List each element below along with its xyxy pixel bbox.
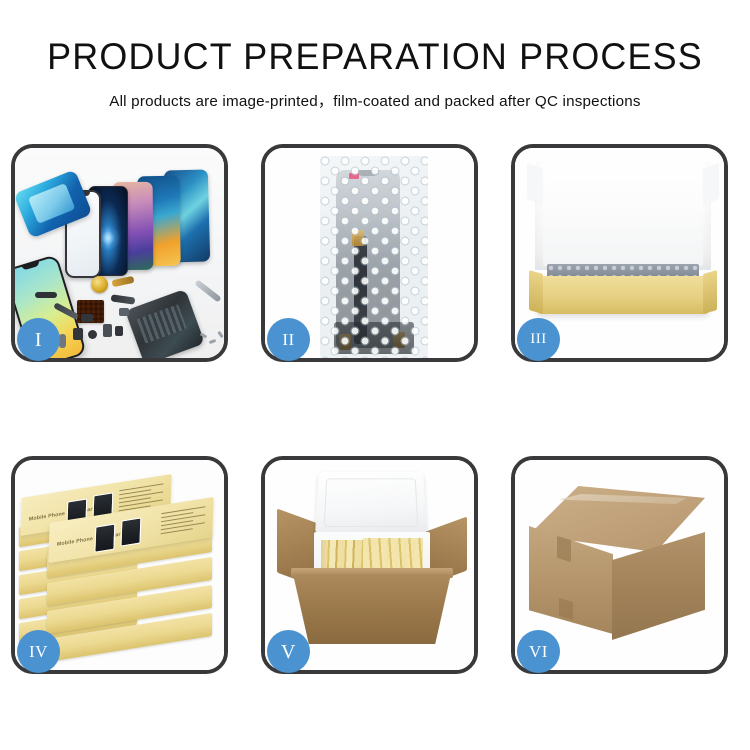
small-part-3 (103, 324, 112, 337)
screws-group (200, 332, 224, 348)
product-preparation-page: PRODUCT PREPARATION PROCESS All products… (0, 0, 750, 750)
carton-seam-tab-top (557, 536, 571, 562)
page-subtitle: All products are image-printed，film-coat… (0, 94, 750, 109)
bubble-wrap-bag (320, 156, 428, 358)
speaker-grille-part (35, 292, 57, 298)
process-step-panel-2: II (261, 144, 478, 362)
process-step-panel-4: Mobile Phone Spare Parts Mobile Phone Sp… (11, 456, 228, 674)
carton-seam-tab-bottom (559, 598, 573, 620)
page-title: PRODUCT PREPARATION PROCESS (11, 38, 739, 75)
step-badge-2: II (267, 318, 310, 361)
step-badge-4: IV (17, 630, 60, 673)
process-step-panel-1: I (11, 144, 228, 362)
foam-box-lid (315, 472, 427, 534)
small-part-7 (119, 308, 129, 316)
process-steps-grid: I II (11, 144, 739, 678)
small-part-2 (88, 330, 97, 339)
yellow-box-base (537, 276, 709, 314)
box-label-text-front: Mobile Phone Spare Parts (57, 531, 126, 548)
small-part-4 (115, 326, 123, 336)
process-step-panel-5: V (261, 456, 478, 674)
box-art-phone-4 (120, 517, 141, 546)
small-part-1 (73, 328, 83, 340)
bubble-texture (320, 156, 428, 358)
step-badge-3: III (517, 318, 560, 361)
gold-coil-part (91, 276, 108, 293)
foam-insert-panel (543, 196, 703, 266)
box-art-phone-3 (94, 523, 115, 552)
process-step-panel-6: VI (511, 456, 728, 674)
process-step-panel-3: III (511, 144, 728, 362)
step-badge-1: I (17, 318, 60, 361)
small-part-5 (59, 334, 66, 348)
step-badge-5: V (267, 630, 310, 673)
small-part-6 (81, 314, 93, 322)
header: PRODUCT PREPARATION PROCESS All products… (0, 0, 750, 109)
box-spec-lines-front (161, 506, 206, 535)
step-badge-6: VI (517, 630, 560, 673)
carton-front-face (293, 574, 451, 644)
